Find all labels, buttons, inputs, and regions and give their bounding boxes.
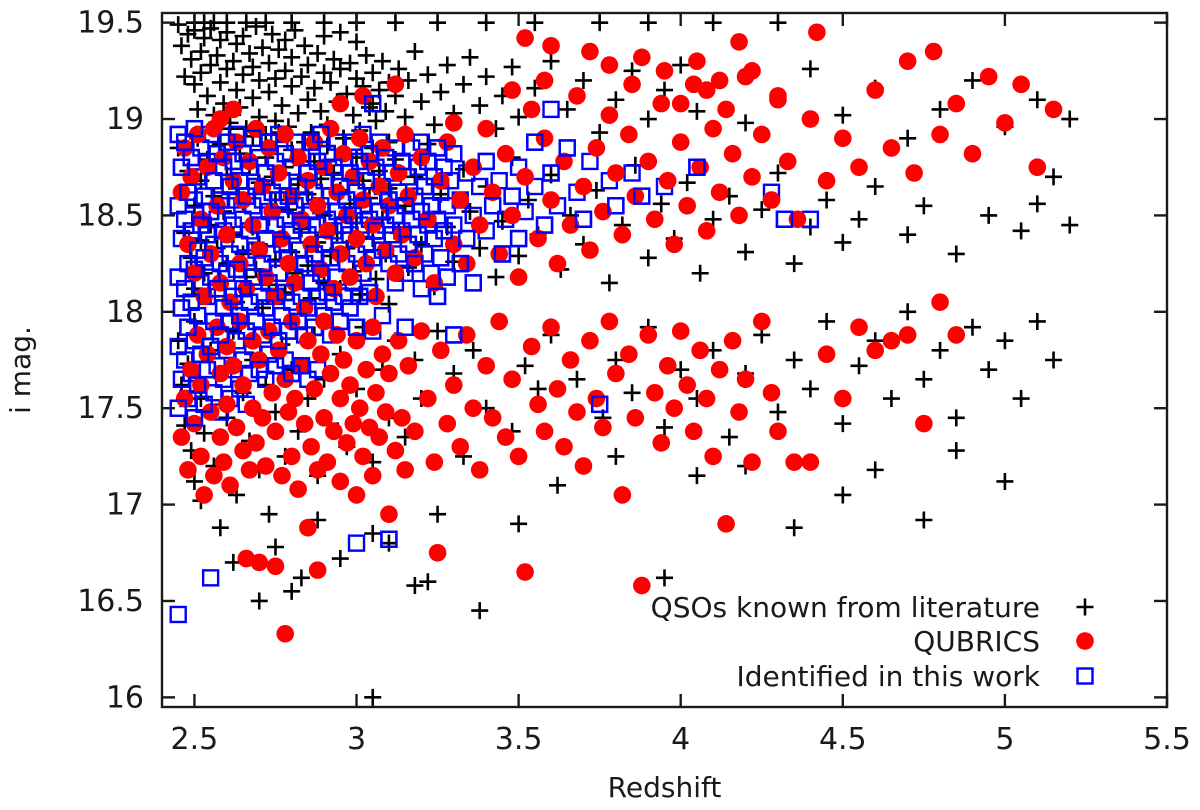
data-point-square [411,227,426,242]
data-point-circle [834,390,852,408]
data-point-circle [192,448,210,466]
data-point-cross [769,404,786,421]
data-point-circle [607,365,625,383]
data-point-circle [678,376,696,394]
data-point-cross [656,569,673,586]
data-point-cross [915,512,932,529]
data-point-circle [1029,158,1047,176]
data-point-cross [818,313,835,330]
data-point-cross [183,51,200,68]
data-point-circle [367,384,385,402]
y-axis-tick-label: 16 [106,680,144,715]
data-point-cross [248,18,265,35]
data-point-cross [251,592,268,609]
data-point-cross [235,66,252,83]
legend-label: QSOs known from literature [651,591,1040,624]
data-point-square [511,231,526,246]
data-point-circle [601,313,619,331]
data-point-circle [588,390,606,408]
data-point-circle [568,403,586,421]
data-point-cross [786,352,803,369]
data-point-circle [672,95,690,113]
data-point-circle [866,342,884,360]
data-point-cross [948,245,965,262]
data-point-circle [374,345,392,363]
data-point-circle [753,313,771,331]
data-point-cross [455,76,472,93]
data-point-circle [445,114,463,132]
data-point-circle [915,415,933,433]
data-point-circle [341,376,359,394]
data-point-circle [338,434,356,452]
data-point-circle [711,183,729,201]
data-point-cross [672,57,689,74]
data-point-cross [212,519,229,536]
data-point-circle [471,461,489,479]
y-axis-tick-label: 18 [106,295,144,330]
data-point-circle [931,293,949,311]
data-point-circle [730,207,748,225]
data-point-circle [503,207,521,225]
data-point-cross [429,14,446,31]
data-point-circle [182,168,200,186]
data-point-circle [351,399,369,417]
data-point-cross [471,97,488,114]
legend-marker-filled-circle [1076,632,1094,650]
data-point-cross [526,14,543,31]
data-point-circle [620,126,638,144]
data-point-circle [850,318,868,336]
data-point-circle [380,365,398,383]
data-point-circle [396,461,414,479]
data-point-circle [503,81,521,99]
data-point-cross [883,390,900,407]
data-point-circle [659,172,677,190]
data-point-cross [1045,352,1062,369]
data-point-cross [1061,111,1078,128]
data-point-circle [234,376,252,394]
data-point-cross [932,101,949,118]
data-point-cross [640,14,657,31]
data-point-cross [899,130,916,147]
data-point-circle [678,197,696,215]
data-point-circle [260,139,278,157]
data-point-circle [387,76,405,94]
legend-label: QUBRICS [913,625,1040,658]
data-point-circle [225,101,243,119]
data-point-circle [406,423,424,441]
data-point-circle [883,332,901,350]
data-point-cross [549,477,566,494]
y-axis-tick-label: 19.5 [77,6,144,41]
data-point-circle [899,52,917,70]
data-point-cross [543,53,560,70]
data-point-cross [419,66,436,83]
data-point-circle [186,264,204,282]
data-point-circle [283,448,301,466]
data-point-cross [478,68,495,85]
data-point-cross [802,380,819,397]
data-point-cross [601,274,618,291]
data-point-cross [380,535,397,552]
data-point-cross [653,195,670,212]
data-point-circle [581,241,599,259]
data-point-circle [769,87,787,105]
data-point-cross [364,64,381,81]
data-point-circle [704,448,722,466]
data-point-circle [484,409,502,427]
data-point-cross [364,525,381,542]
data-point-circle [477,357,495,375]
data-point-cross [465,342,482,359]
data-point-cross [293,569,310,586]
x-axis-tick-label: 4 [671,722,690,757]
data-point-cross [1061,217,1078,234]
data-point-cross [283,14,300,31]
data-point-circle [594,419,612,437]
data-point-square [174,300,189,315]
data-point-circle [225,357,243,375]
data-point-cross [786,519,803,536]
data-point-circle [568,87,586,105]
data-point-circle [322,120,340,138]
data-point-circle [370,428,388,446]
data-point-cross [737,114,754,131]
data-point-cross [267,538,284,555]
data-point-cross [737,244,754,261]
data-point-cross [591,14,608,31]
data-point-cross [390,60,407,77]
data-point-cross [932,342,949,359]
data-point-circle [536,72,554,90]
data-point-cross [640,111,657,128]
data-point-circle [451,438,469,456]
data-point-circle [691,342,709,360]
data-point-circle [195,486,213,504]
data-point-circle [996,114,1014,132]
data-point-cross [286,22,303,39]
data-point-circle [656,62,674,80]
data-point-circle [280,255,298,273]
data-point-circle [730,33,748,51]
data-point-circle [665,236,683,254]
data-point-cross [406,43,423,60]
data-point-cross [834,415,851,432]
data-point-circle [332,245,350,263]
data-point-circle [393,409,411,427]
data-point-cross [948,442,965,459]
data-point-circle [763,384,781,402]
data-point-circle [691,158,709,176]
data-point-cross [996,473,1013,490]
data-point-circle [335,351,353,369]
data-point-cross [705,14,722,31]
data-point-circle [387,264,405,282]
data-point-cross [260,506,277,523]
data-point-circle [549,380,567,398]
data-point-square [433,250,448,265]
data-point-circle [312,345,330,363]
data-point-circle [510,268,528,286]
data-point-circle [257,457,275,475]
x-axis-tick-label: 4.5 [819,722,867,757]
data-point-circle [341,268,359,286]
data-point-square [466,275,481,290]
data-point-cross [980,361,997,378]
data-point-circle [357,361,375,379]
data-point-circle [737,370,755,388]
data-point-circle [332,473,350,491]
data-point-square [466,275,481,290]
data-point-cross [867,178,884,195]
data-point-circle [309,561,327,579]
y-axis-tick-label: 18.5 [77,198,144,233]
data-point-cross [471,602,488,619]
data-point-cross [504,58,521,75]
data-point-circle [276,625,294,643]
data-point-cross [1029,91,1046,108]
data-point-circle [1076,632,1094,650]
legend-marker-plus [1077,599,1094,616]
data-point-circle [302,438,320,456]
data-point-circle [218,396,236,414]
data-point-square [433,250,448,265]
data-point-circle [267,557,285,575]
data-point-cross [348,33,365,50]
data-point-circle [497,428,515,446]
data-point-circle [850,158,868,176]
data-point-cross [899,303,916,320]
data-point-cross [345,107,362,124]
data-point-cross [439,57,456,74]
data-point-cross [510,247,527,264]
data-point-circle [802,453,820,471]
data-point-cross [309,45,326,62]
data-point-circle [627,409,645,427]
data-point-circle [390,164,408,182]
data-point-cross [948,409,965,426]
data-point-square [505,189,520,204]
data-point-circle [432,342,450,360]
data-point-circle [581,332,599,350]
data-point-square [511,231,526,246]
data-point-circle [698,390,716,408]
data-point-square [171,607,186,622]
data-point-circle [808,23,826,41]
data-point-circle [510,448,528,466]
data-point-square [417,179,432,194]
data-point-circle [646,210,664,228]
x-axis-title: Redshift [608,771,722,804]
x-axis-tick-label: 5.5 [1143,722,1191,757]
data-point-cross [867,461,884,478]
data-point-cross [996,332,1013,349]
data-point-circle [247,434,265,452]
data-point-cross [834,107,851,124]
data-point-cross [769,14,786,31]
x-axis-tick-label: 5 [995,722,1014,757]
data-point-cross [834,234,851,251]
data-point-circle [503,370,521,388]
data-point-cross [964,72,981,89]
data-point-circle [743,168,761,186]
data-point-cross [1029,313,1046,330]
data-point-circle [263,384,281,402]
data-point-circle [516,563,534,581]
data-point-circle [270,342,288,360]
data-point-square [625,166,640,181]
data-point-circle [743,453,761,471]
data-point-cross [332,24,349,41]
data-point-cross [818,191,835,208]
data-point-cross [429,506,446,523]
data-point-cross [358,47,375,64]
data-point-circle [516,29,534,47]
data-point-circle [536,423,554,441]
data-point-circle [173,428,191,446]
data-point-circle [419,390,437,408]
data-point-cross [1013,390,1030,407]
data-point-circle [523,101,541,119]
series-qubrics [173,23,1063,642]
data-point-cross [273,97,290,114]
data-point-cross [915,197,932,214]
data-point-circle [396,126,414,144]
data-point-circle [601,56,619,74]
data-point-circle [542,191,560,209]
data-point-circle [221,477,239,495]
y-axis-tick-label: 17 [106,488,144,523]
data-point-square [544,102,559,117]
data-point-cross [679,174,696,191]
data-point-cross [980,207,997,224]
legend-label: Identified in this work [737,660,1041,693]
data-point-circle [429,544,447,562]
data-point-circle [614,486,632,504]
data-point-cross [1045,168,1062,185]
data-point-circle [241,461,259,479]
data-point-circle [633,577,651,595]
data-point-circle [267,423,285,441]
data-point-cross [419,573,436,590]
data-point-square [174,300,189,315]
data-point-cross [656,419,673,436]
data-point-circle [711,72,729,90]
data-point-circle [354,448,372,466]
data-point-circle [490,313,508,331]
data-point-cross [374,53,391,70]
data-point-circle [179,461,197,479]
scatter-plot-figure: 2.533.544.555.51616.51717.51818.51919.5R… [0,0,1200,810]
data-point-circle [964,145,982,163]
x-axis-tick-label: 2.5 [171,722,219,757]
data-point-square [417,179,432,194]
data-point-circle [289,480,307,498]
data-point-cross [1029,195,1046,212]
data-point-cross [851,357,868,374]
data-point-circle [980,68,998,86]
data-point-cross [851,211,868,228]
data-point-cross [530,380,547,397]
data-point-circle [575,178,593,196]
data-point-cross [834,486,851,503]
data-point-circle [273,467,291,485]
data-point-cross [192,43,209,60]
data-point-cross [218,14,235,31]
data-point-cross [721,429,738,446]
data-point-circle [438,415,456,433]
data-point-circle [497,145,515,163]
data-point-circle [413,322,431,340]
data-point-cross [406,577,423,594]
data-point-circle [319,453,337,471]
data-point-circle [380,505,398,523]
data-point-cross [487,269,504,286]
data-point-cross [283,583,300,600]
x-axis-tick-label: 3 [347,722,366,757]
data-point-circle [400,187,418,205]
data-point-cross [290,105,307,122]
data-point-circle [724,332,742,350]
data-point-circle [179,236,197,254]
data-point-circle [299,332,317,350]
data-point-circle [529,396,547,414]
data-point-circle [315,313,333,331]
data-point-circle [286,274,304,292]
data-point-cross [432,84,449,101]
data-point-circle [286,390,304,408]
data-point-cross [199,87,216,104]
data-point-circle [309,197,327,215]
data-point-circle [464,399,482,417]
data-point-cross [688,103,705,120]
data-point-circle [685,423,703,441]
data-point-circle [614,226,632,244]
data-point-circle [639,326,657,344]
plot-canvas: 2.533.544.555.51616.51717.51818.51919.5R… [0,0,1200,810]
data-point-circle [724,145,742,163]
data-point-cross [426,116,443,133]
data-point-circle [549,255,567,273]
data-point-circle [192,376,210,394]
data-point-cross [478,14,495,31]
data-point-circle [779,153,797,171]
data-point-cross [244,89,261,106]
data-point-circle [377,403,395,421]
data-point-circle [542,318,560,336]
data-point-circle [332,95,350,113]
data-point-cross [332,550,349,567]
data-point-square [349,536,364,551]
data-point-circle [1045,101,1063,119]
data-point-circle [344,415,362,433]
data-point-circle [254,409,272,427]
data-point-cross [397,109,414,126]
data-point-circle [730,403,748,421]
data-point-cross [283,78,300,95]
data-point-circle [818,172,836,190]
data-point-circle [652,95,670,113]
data-point-circle [250,554,268,572]
data-point-circle [947,95,965,113]
data-point-circle [426,453,444,471]
data-point-circle [1012,76,1030,94]
data-point-circle [639,153,657,171]
data-point-cross [413,93,430,110]
data-point-cross [461,49,478,66]
data-point-circle [763,191,781,209]
data-point-circle [445,376,463,394]
